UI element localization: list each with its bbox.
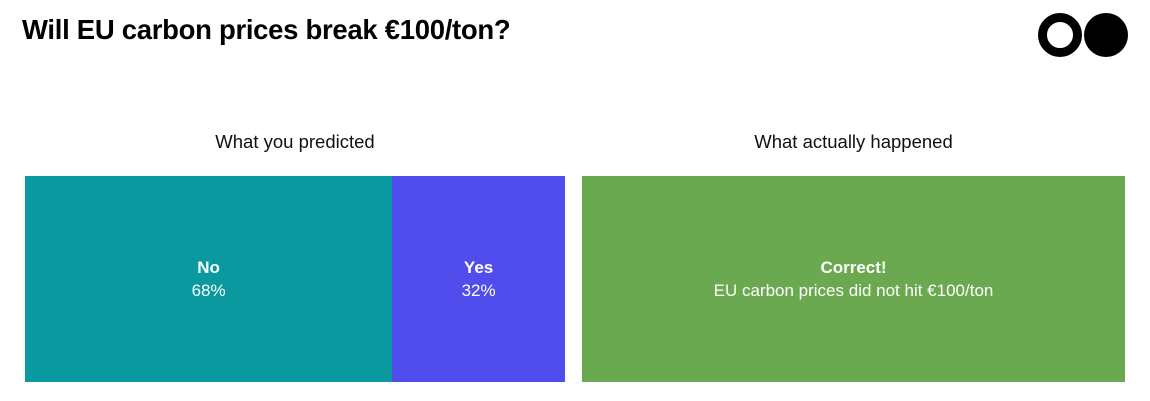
actual-panel-label: What actually happened bbox=[582, 131, 1125, 153]
outcome-verdict: Correct! bbox=[820, 257, 886, 279]
logo bbox=[1038, 13, 1130, 57]
bar-segment-no-label: No bbox=[197, 257, 220, 279]
outcome-detail: EU carbon prices did not hit €100/ton bbox=[714, 279, 994, 302]
bar-segment-no: No 68% bbox=[25, 176, 392, 382]
outcome-panel: Correct! EU carbon prices did not hit €1… bbox=[582, 176, 1125, 382]
circle-filled-icon bbox=[1084, 13, 1128, 57]
predicted-panel-label: What you predicted bbox=[25, 131, 565, 153]
bar-segment-yes-label: Yes bbox=[464, 257, 493, 279]
bar-segment-yes: Yes 32% bbox=[392, 176, 565, 382]
bar-segment-yes-percent: 32% bbox=[462, 279, 496, 302]
bar-segment-no-percent: 68% bbox=[192, 279, 226, 302]
header: Will EU carbon prices break €100/ton? bbox=[0, 0, 1150, 70]
prediction-stacked-bar: No 68% Yes 32% bbox=[25, 176, 565, 382]
page-title: Will EU carbon prices break €100/ton? bbox=[22, 13, 510, 47]
circle-outline-icon bbox=[1038, 13, 1082, 57]
